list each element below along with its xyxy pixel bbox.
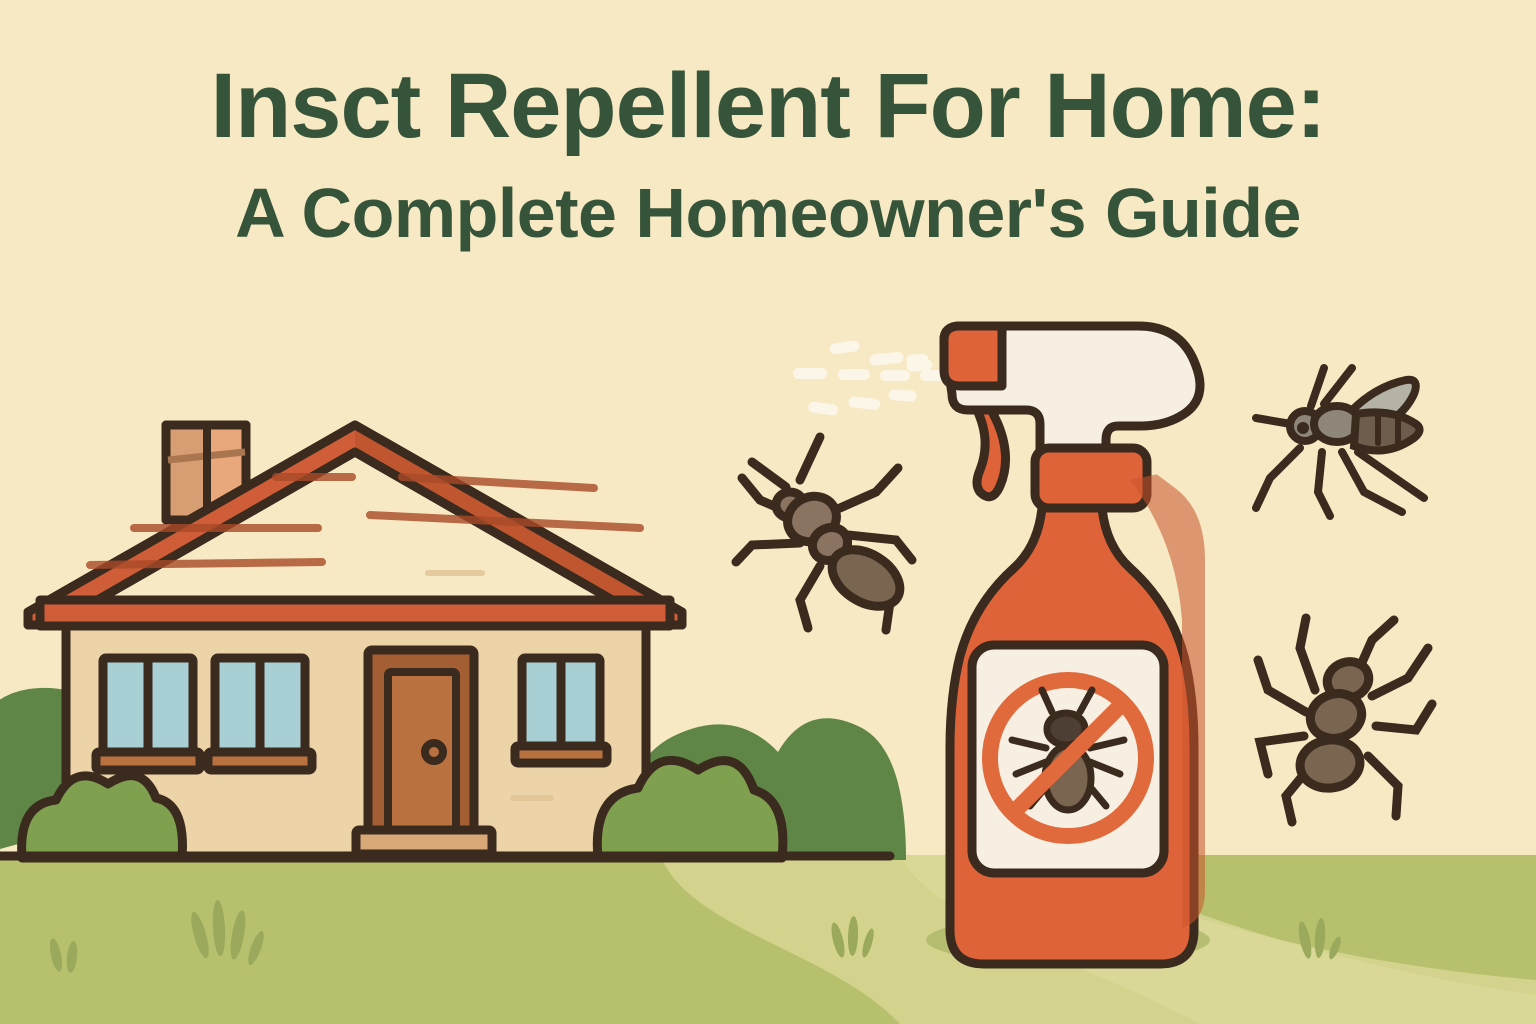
bottle-collar [1035,448,1147,508]
wall-texture-line-1 [425,570,485,576]
nozzle-tip [944,326,1002,386]
illustration-canvas [0,0,1536,1024]
front-door [356,650,492,854]
door-step [356,830,492,854]
roof-eave [40,600,670,626]
window-right [515,658,607,763]
window-middle [208,658,312,770]
hero-banner: Insct Repellent For Home: A Complete Hom… [0,0,1536,1024]
window-sill-middle [208,752,312,770]
window-left [96,658,200,770]
wall-texture-line-2 [510,795,554,801]
window-sill-left [96,752,200,770]
window-sill-right [515,746,607,763]
